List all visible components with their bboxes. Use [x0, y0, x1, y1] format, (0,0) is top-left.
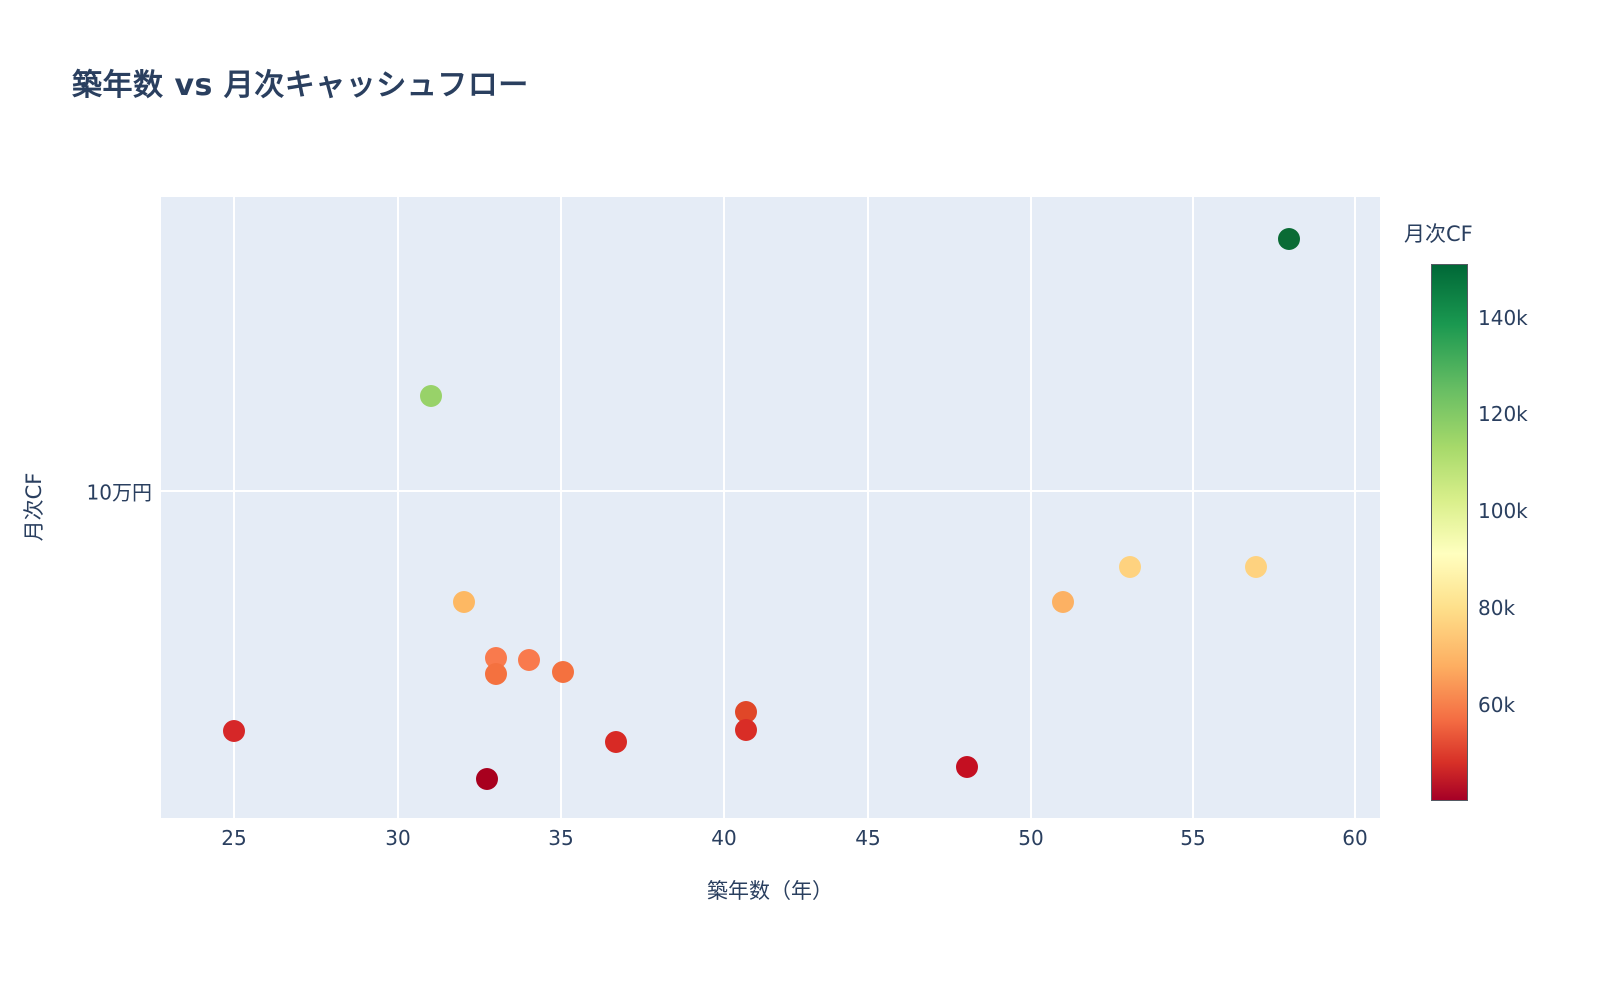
colorbar-title: 月次CF	[1404, 218, 1473, 248]
x-gridline	[1192, 197, 1194, 818]
scatter-point[interactable]	[518, 649, 540, 671]
colorbar-tick-label: 100k	[1478, 499, 1528, 523]
y-axis-title: 月次CF	[18, 473, 48, 542]
scatter-point[interactable]	[605, 731, 627, 753]
colorbar-tick-label: 140k	[1478, 306, 1528, 330]
x-tick-label: 25	[221, 826, 246, 850]
y-gridline	[161, 490, 1380, 492]
x-gridline	[560, 197, 562, 818]
scatter-point[interactable]	[735, 719, 757, 741]
scatter-point[interactable]	[1119, 556, 1141, 578]
colorbar-tick-label: 80k	[1478, 596, 1515, 620]
x-gridline	[1030, 197, 1032, 818]
x-tick-label: 30	[385, 826, 410, 850]
x-tick-label: 35	[548, 826, 573, 850]
x-gridline	[397, 197, 399, 818]
scatter-point[interactable]	[485, 663, 507, 685]
x-tick-label: 50	[1018, 826, 1043, 850]
scatter-point[interactable]	[552, 661, 574, 683]
x-tick-label: 60	[1342, 826, 1367, 850]
chart-figure: 築年数 vs 月次キャッシュフロー 月次CF 築年数（年） 月次CF 25303…	[0, 0, 1600, 1000]
colorbar-tick-label: 120k	[1478, 402, 1528, 426]
scatter-point[interactable]	[476, 768, 498, 790]
y-tick-label: 10万円	[87, 477, 152, 506]
x-gridline	[1354, 197, 1356, 818]
scatter-point[interactable]	[453, 591, 475, 613]
scatter-point[interactable]	[1278, 228, 1300, 250]
scatter-point[interactable]	[1245, 556, 1267, 578]
plot-area	[161, 197, 1380, 818]
scatter-point[interactable]	[223, 720, 245, 742]
page-title: 築年数 vs 月次キャッシュフロー	[72, 60, 529, 104]
colorbar-tick-label: 60k	[1478, 693, 1515, 717]
x-axis-title: 築年数（年）	[707, 875, 833, 905]
x-tick-label: 45	[855, 826, 880, 850]
scatter-point[interactable]	[956, 756, 978, 778]
x-gridline	[723, 197, 725, 818]
x-tick-label: 55	[1180, 826, 1205, 850]
colorbar-gradient	[1431, 264, 1468, 801]
scatter-point[interactable]	[420, 385, 442, 407]
scatter-point[interactable]	[1052, 591, 1074, 613]
x-gridline	[867, 197, 869, 818]
x-tick-label: 40	[711, 826, 736, 850]
